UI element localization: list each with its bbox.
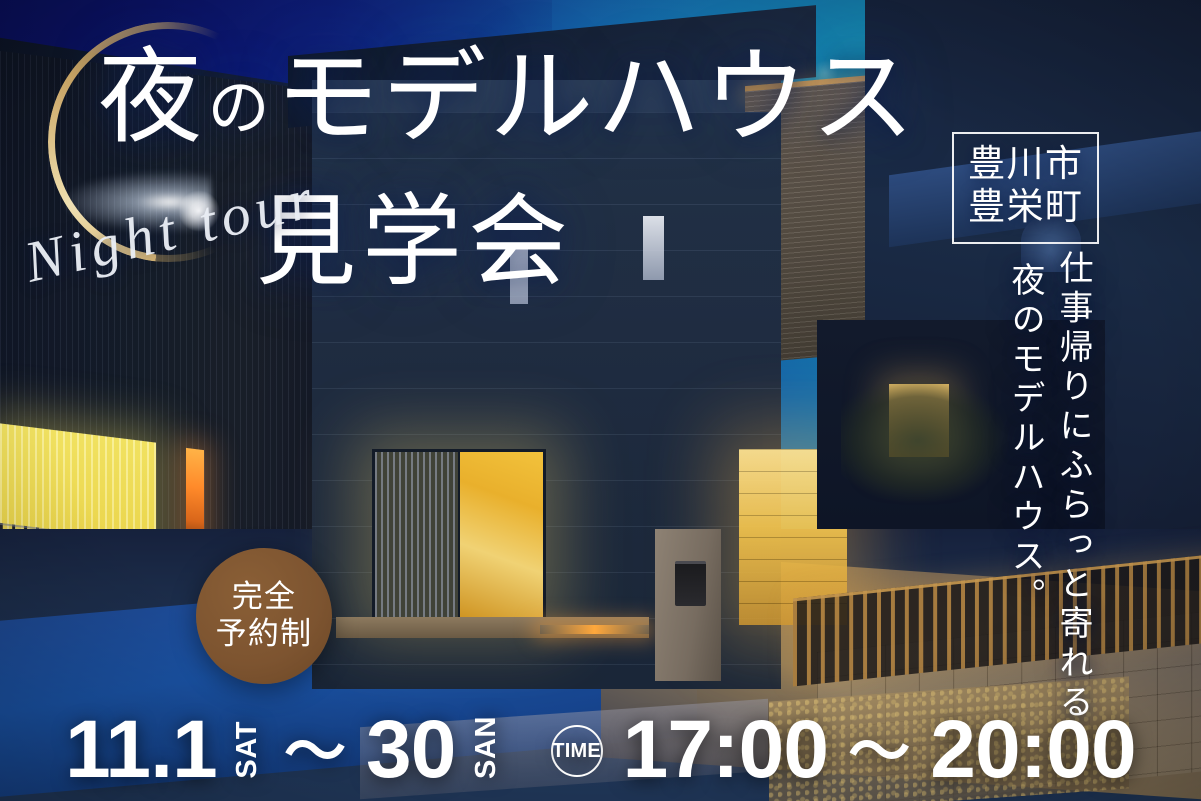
title-yoru: 夜 (98, 41, 205, 156)
reservation-line-1: 完全 (232, 581, 296, 614)
end-day-of-week: SAN (472, 716, 501, 779)
start-day-of-week: SAT (233, 721, 262, 779)
main-lit-window (372, 449, 546, 621)
schedule-bar: 11.1 SAT 〜 30 SAN TIME 17:00 〜 20:00 (0, 712, 1201, 787)
window-pane-curtain (375, 452, 458, 618)
start-date: 11.1 (65, 712, 217, 787)
location-city: 豊川市 (968, 144, 1083, 187)
vertical-catchcopy-left: 夜のモデルハウス。 (1007, 262, 1041, 617)
location-badge: 豊川市 豊栄町 (952, 132, 1099, 244)
time-start: 17:00 (623, 712, 829, 787)
reservation-required-badge: 完全 予約制 (196, 548, 332, 684)
title-no: の (208, 75, 273, 143)
time-range-mark: 〜 (848, 724, 910, 781)
upper-slim-window-2 (643, 216, 665, 280)
reservation-line-2: 予約制 (216, 618, 313, 651)
title-model-house: モデルハウス (275, 41, 918, 156)
mailbox-icon (675, 561, 706, 606)
time-label-icon: TIME (551, 725, 603, 777)
location-town: 豊栄町 (968, 187, 1083, 230)
window-pane-interior (460, 452, 543, 618)
night-tour-banner: 夜のモデルハウス 見学会 Night tour 豊川市 豊栄町 仕事帰りにふらっ… (0, 0, 1201, 801)
page-title: 夜のモデルハウス (98, 46, 918, 152)
tree-foliage (841, 368, 1033, 512)
date-range-mark: 〜 (284, 724, 346, 781)
end-date: 30 (366, 712, 456, 787)
vertical-catchcopy-right: 仕事帰りにふらっと寄れる (1055, 250, 1089, 723)
time-end: 20:00 (930, 712, 1136, 787)
